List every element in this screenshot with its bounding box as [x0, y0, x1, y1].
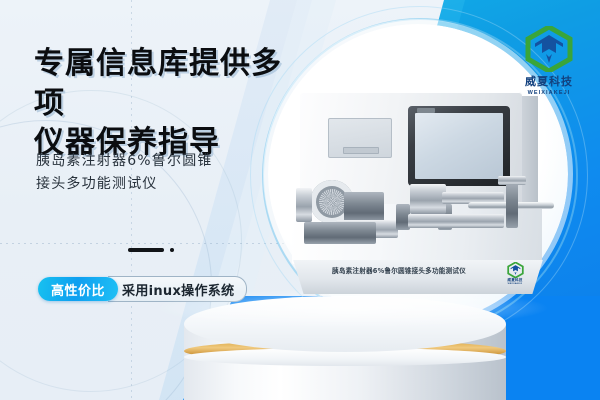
machine-screen-led: [417, 108, 435, 113]
machine-nameplate-logo: 威夏科技 WEIXIAKEJI: [500, 262, 530, 285]
machine-motor-block: [344, 192, 384, 222]
machine-front-panel: [328, 118, 392, 158]
banner-canvas: 威夏科技 WEIXIAKEJI 专属信息库提供多项 仪器保养指导 胰岛素注射器6…: [0, 0, 600, 400]
badge-value-for-money: 高性价比: [38, 277, 118, 301]
brand-logo: 威夏科技 WEIXIAKEJI: [512, 26, 586, 96]
machine-rail: [408, 214, 504, 228]
machine-nameplate-text: 胰岛素注射器6%鲁尔圆锥接头多功能测试仪: [292, 265, 506, 275]
subheadline-line-1: 胰岛素注射器6%鲁尔圆锥: [36, 150, 286, 173]
subheadline-line-2: 接头多功能测试仪: [36, 173, 286, 196]
decorative-divider: [128, 248, 174, 252]
divider-dot: [170, 248, 174, 252]
machine-clamp-left: [296, 188, 312, 222]
headline: 专属信息库提供多项 仪器保养指导: [34, 44, 304, 163]
brand-name-cn: 威夏科技: [512, 73, 586, 89]
machine-nameplate-brand-en: WEIXIAKEJI: [500, 283, 530, 285]
hexagon-shield-logo-icon: [525, 26, 573, 72]
machine-touchscreen: [415, 113, 503, 179]
hexagon-shield-logo-icon: [507, 262, 524, 278]
product-testing-machine: 胰岛素注射器6%鲁尔圆锥接头多功能测试仪 威夏科技 WEIXIAKEJI: [292, 92, 560, 307]
headline-line-1: 专属信息库提供多项: [34, 46, 282, 121]
machine-test-fixture: [410, 184, 446, 214]
machine-tray: [304, 222, 376, 244]
machine-end-cap: [498, 176, 526, 185]
machine-housing-side: [522, 96, 538, 204]
divider-line: [128, 248, 164, 252]
machine-panel-slot: [343, 147, 379, 154]
machine-screen-bezel: [408, 106, 510, 186]
subheadline: 胰岛素注射器6%鲁尔圆锥 接头多功能测试仪: [36, 150, 286, 196]
machine-end-bracket: [506, 180, 518, 228]
